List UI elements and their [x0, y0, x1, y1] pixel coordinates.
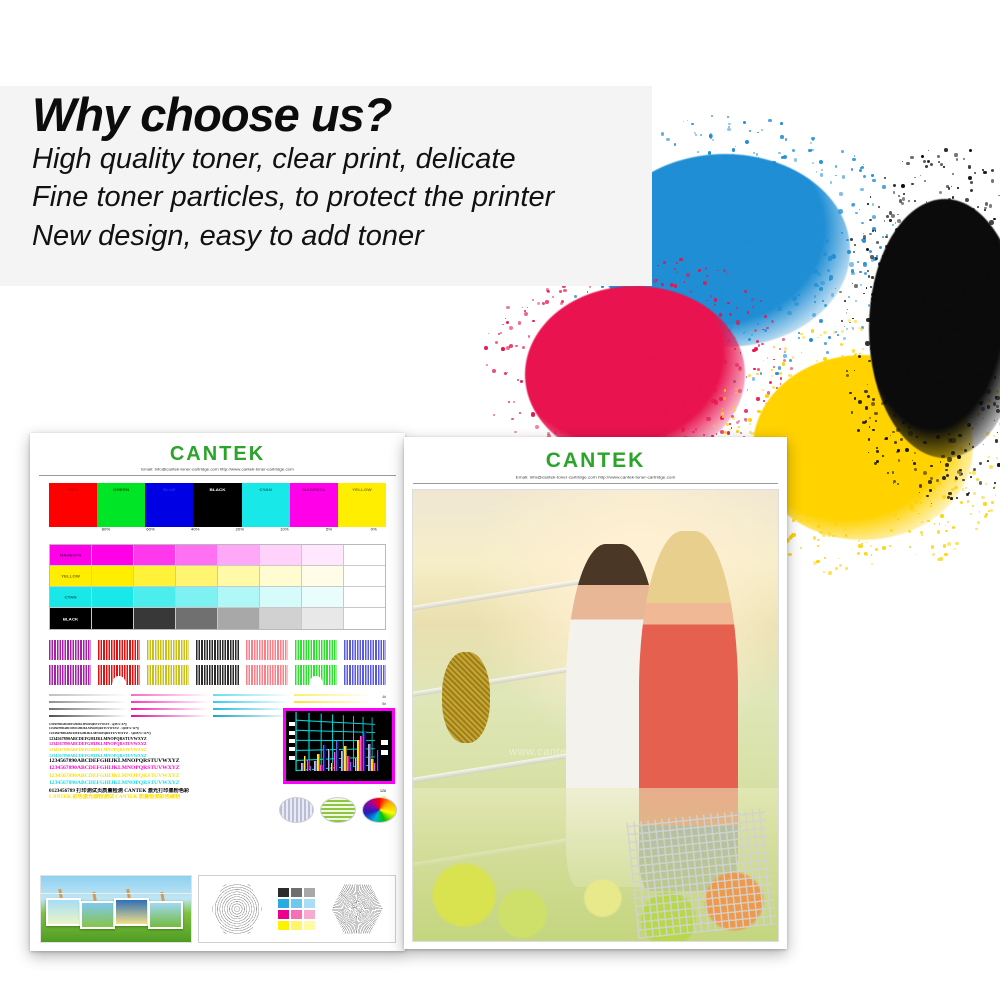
tint-header-1: 60% [128, 527, 173, 535]
page-title: Why choose us? [32, 90, 672, 140]
swatch-label: CYAN [259, 487, 272, 491]
tint-cell [344, 608, 385, 629]
tint-cell [92, 545, 134, 566]
striped-gray-ellipse [279, 797, 314, 823]
tint-row-label: MAGENTA [50, 545, 92, 566]
tint-header-4: 10% [262, 527, 307, 535]
tint-row-black: BLACK [50, 608, 385, 629]
clothesline-wire [41, 893, 191, 894]
gradient-bar [213, 701, 292, 703]
spiral-hexagon-icon [211, 883, 263, 935]
tint-row-label-text: BLACK [63, 616, 78, 620]
tint-cell [302, 545, 344, 566]
tint-percent-label: 60% [146, 528, 155, 532]
gradient-bar [49, 715, 128, 717]
tint-header-2: 40% [173, 527, 218, 535]
color-wheel-ellipse [362, 797, 397, 823]
tint-header-0: 80% [84, 527, 129, 535]
tint-cell [92, 608, 134, 629]
primary-color-swatch-bar: REDGREENBLUEBLACKCYANMAGENTAYELLOW [39, 483, 396, 527]
hanging-photo [80, 901, 115, 929]
gradient-bar-row: 5# [49, 701, 386, 706]
striped-patch [147, 640, 189, 660]
striped-green-ellipse [320, 797, 355, 823]
ellipse-test-row [279, 797, 397, 823]
chart-container [283, 708, 395, 784]
tint-cell [344, 587, 385, 608]
gradient-bar [213, 694, 292, 696]
cmyk-swatch-cell [304, 910, 315, 919]
tint-cell [218, 608, 260, 629]
tint-cell [260, 608, 302, 629]
color-swatch-magenta: MAGENTA [290, 483, 338, 527]
tint-cell [92, 587, 134, 608]
tint-percentage-header: 80%60%40%20%10%5%0% [39, 527, 396, 535]
color-swatch-cyan: CYAN [242, 483, 290, 527]
gradient-bar-size-label: 5# [376, 702, 386, 706]
supermarket-couple-photo: www.cantek-toner-cartridge.com [412, 489, 779, 942]
gradient-bar [131, 694, 210, 696]
hanging-photo [148, 901, 183, 929]
chart-axis-tick [289, 722, 295, 726]
striped-patch [295, 665, 337, 685]
cmyk-swatch-grid [278, 888, 315, 930]
tint-cell [134, 545, 176, 566]
swatch-label: RED [68, 487, 78, 491]
chart-bar [323, 745, 326, 771]
gradient-bar [131, 701, 210, 703]
tint-gradient-grid: MAGENTAYELLOWCYANBLACK [49, 544, 386, 630]
color-swatch-yellow: YELLOW [338, 483, 386, 527]
tint-row-label-text: CYAN [64, 595, 76, 599]
gradient-bar [131, 715, 210, 717]
gradient-bar [294, 701, 373, 703]
gradient-bar [49, 708, 128, 710]
header-divider-right [413, 483, 778, 484]
swatch-label: YELLOW [352, 487, 372, 491]
line-burst-hexagon-icon [331, 883, 383, 935]
patch-row-2 [49, 665, 386, 685]
tint-row-label-text: YELLOW [61, 574, 80, 578]
tint-cell [344, 566, 385, 587]
tint-percent-label: 0% [371, 528, 377, 532]
tint-row-yellow: YELLOW [50, 566, 385, 587]
gradient-bar [49, 701, 128, 703]
gradient-bar-size-label: 4# [376, 695, 386, 699]
color-swatch-blue: BLUE [145, 483, 193, 527]
tint-cell [344, 545, 385, 566]
swatch-label: BLUE [163, 487, 176, 491]
cmyk-swatch-cell [278, 899, 289, 908]
tint-percent-label: 20% [236, 528, 245, 532]
striped-patch [344, 665, 386, 685]
headline-bullet-3: New design, easy to add toner [32, 217, 672, 256]
patch-notch [309, 676, 322, 685]
chart-axis-tick [289, 731, 295, 735]
tint-cell [134, 566, 176, 587]
font-test-line: 0123456789 打印测试页质量检测 CANTEK 激光打印墨粉色彩 [49, 788, 372, 795]
tint-cell [92, 566, 134, 587]
tint-row-cyan: CYAN [50, 587, 385, 608]
chart-axis-tick [289, 756, 295, 760]
chart-legend-item [381, 750, 388, 755]
chart-bar [310, 766, 313, 771]
cmyk-swatch-cell [304, 899, 315, 908]
striped-patch [344, 640, 386, 660]
cmyk-swatch-cell [304, 921, 315, 930]
tint-header-spacer [39, 527, 84, 535]
contact-line-right: Email: info@cantek-toner-cartridge.com h… [413, 476, 778, 480]
chart-bar [336, 741, 339, 771]
tint-row-label: CYAN [50, 587, 92, 608]
tint-percent-label: 5% [326, 528, 332, 532]
bar-chart [286, 711, 392, 781]
tint-header-6: 0% [351, 527, 396, 535]
chart-axis-tick [289, 739, 295, 743]
gradient-bar [49, 694, 128, 696]
tint-cell [218, 566, 260, 587]
hanging-photo [46, 898, 81, 926]
color-swatch-black: BLACK [193, 483, 241, 527]
tint-cell [302, 587, 344, 608]
striped-patch-rows [49, 640, 386, 685]
hanging-photo [114, 898, 149, 926]
headline-bullet-2: Fine toner particles, to protect the pri… [32, 178, 672, 217]
tint-cell [260, 587, 302, 608]
cmyk-swatch-cell [291, 910, 302, 919]
color-swatch-green: GREEN [97, 483, 145, 527]
tint-row-magenta: MAGENTA [50, 545, 385, 566]
chart-bar [363, 732, 366, 771]
black-toner-pile [845, 150, 1000, 500]
test-print-page-left[interactable]: CANTEK Email: info@cantek-toner-cartridg… [30, 433, 405, 951]
contact-line-left: Email: info@cantek-toner-cartridge.com h… [39, 468, 396, 472]
tint-percent-label: 10% [280, 528, 289, 532]
tint-header-3: 20% [218, 527, 263, 535]
tint-cell [302, 608, 344, 629]
chart-bar [377, 750, 380, 771]
striped-patch [98, 640, 140, 660]
tint-percent-label: 40% [191, 528, 200, 532]
cmyk-swatch-cell [291, 899, 302, 908]
pineapple [442, 652, 489, 742]
font-size-label: 12# [375, 789, 386, 793]
tint-cell [176, 587, 218, 608]
striped-patch [246, 665, 288, 685]
clothesline-photo [40, 875, 192, 943]
tint-cell [134, 608, 176, 629]
striped-patch [49, 640, 91, 660]
brand-logo-right: CANTEK [413, 449, 778, 472]
tint-percent-label: 80% [102, 528, 111, 532]
tint-cell [218, 587, 260, 608]
resolution-pattern-box [198, 875, 396, 943]
cmyk-swatch-cell [304, 888, 315, 897]
cmyk-swatch-cell [278, 888, 289, 897]
cjk-test-row: 0123456789 打印测试页质量检测 CANTEK 激光打印墨粉色彩12# [49, 788, 386, 795]
swatch-label: BLACK [209, 487, 225, 491]
tint-header-5: 5% [307, 527, 352, 535]
tint-cell [260, 566, 302, 587]
striped-patch [246, 640, 288, 660]
cmyk-swatch-cell [278, 910, 289, 919]
cmyk-swatch-cell [291, 921, 302, 930]
chart-axis-tick [289, 747, 295, 751]
striped-patch [98, 665, 140, 685]
tint-cell [218, 545, 260, 566]
tint-cell [134, 587, 176, 608]
patch-notch [112, 676, 125, 685]
patch-row-1 [49, 640, 386, 660]
gradient-bar [213, 715, 292, 717]
test-print-page-right[interactable]: CANTEK Email: info@cantek-toner-cartridg… [404, 437, 787, 949]
striped-patch [196, 665, 238, 685]
gradient-bar-row: 4# [49, 694, 386, 699]
headline-block: Why choose us? High quality toner, clear… [32, 90, 672, 256]
brand-logo-left: CANTEK [39, 443, 396, 465]
gradient-bar [213, 708, 292, 710]
tint-row-label-text: MAGENTA [60, 553, 82, 557]
shopping-cart [626, 808, 776, 939]
color-swatch-red: RED [49, 483, 97, 527]
striped-patch [147, 665, 189, 685]
swatch-label: GREEN [113, 487, 129, 491]
tint-row-label: BLACK [50, 608, 92, 629]
tint-cell [176, 566, 218, 587]
tint-cell [176, 545, 218, 566]
tint-cell [176, 608, 218, 629]
gradient-bar [131, 708, 210, 710]
cmyk-swatch-cell [278, 921, 289, 930]
tint-row-label: YELLOW [50, 566, 92, 587]
striped-patch [295, 640, 337, 660]
swatch-label: MAGENTA [302, 487, 325, 491]
tint-cell [260, 545, 302, 566]
marketing-banner: Why choose us? High quality toner, clear… [0, 0, 1000, 1000]
headline-bullet-1: High quality toner, clear print, delicat… [32, 140, 672, 179]
cmyk-swatch-cell [291, 888, 302, 897]
bottom-test-strip [40, 875, 396, 943]
striped-patch [196, 640, 238, 660]
tint-cell [302, 566, 344, 587]
chart-bar [350, 762, 353, 772]
striped-patch [49, 665, 91, 685]
chart-legend-item [381, 740, 388, 745]
gradient-bar [294, 694, 373, 696]
header-divider-left [39, 475, 396, 476]
